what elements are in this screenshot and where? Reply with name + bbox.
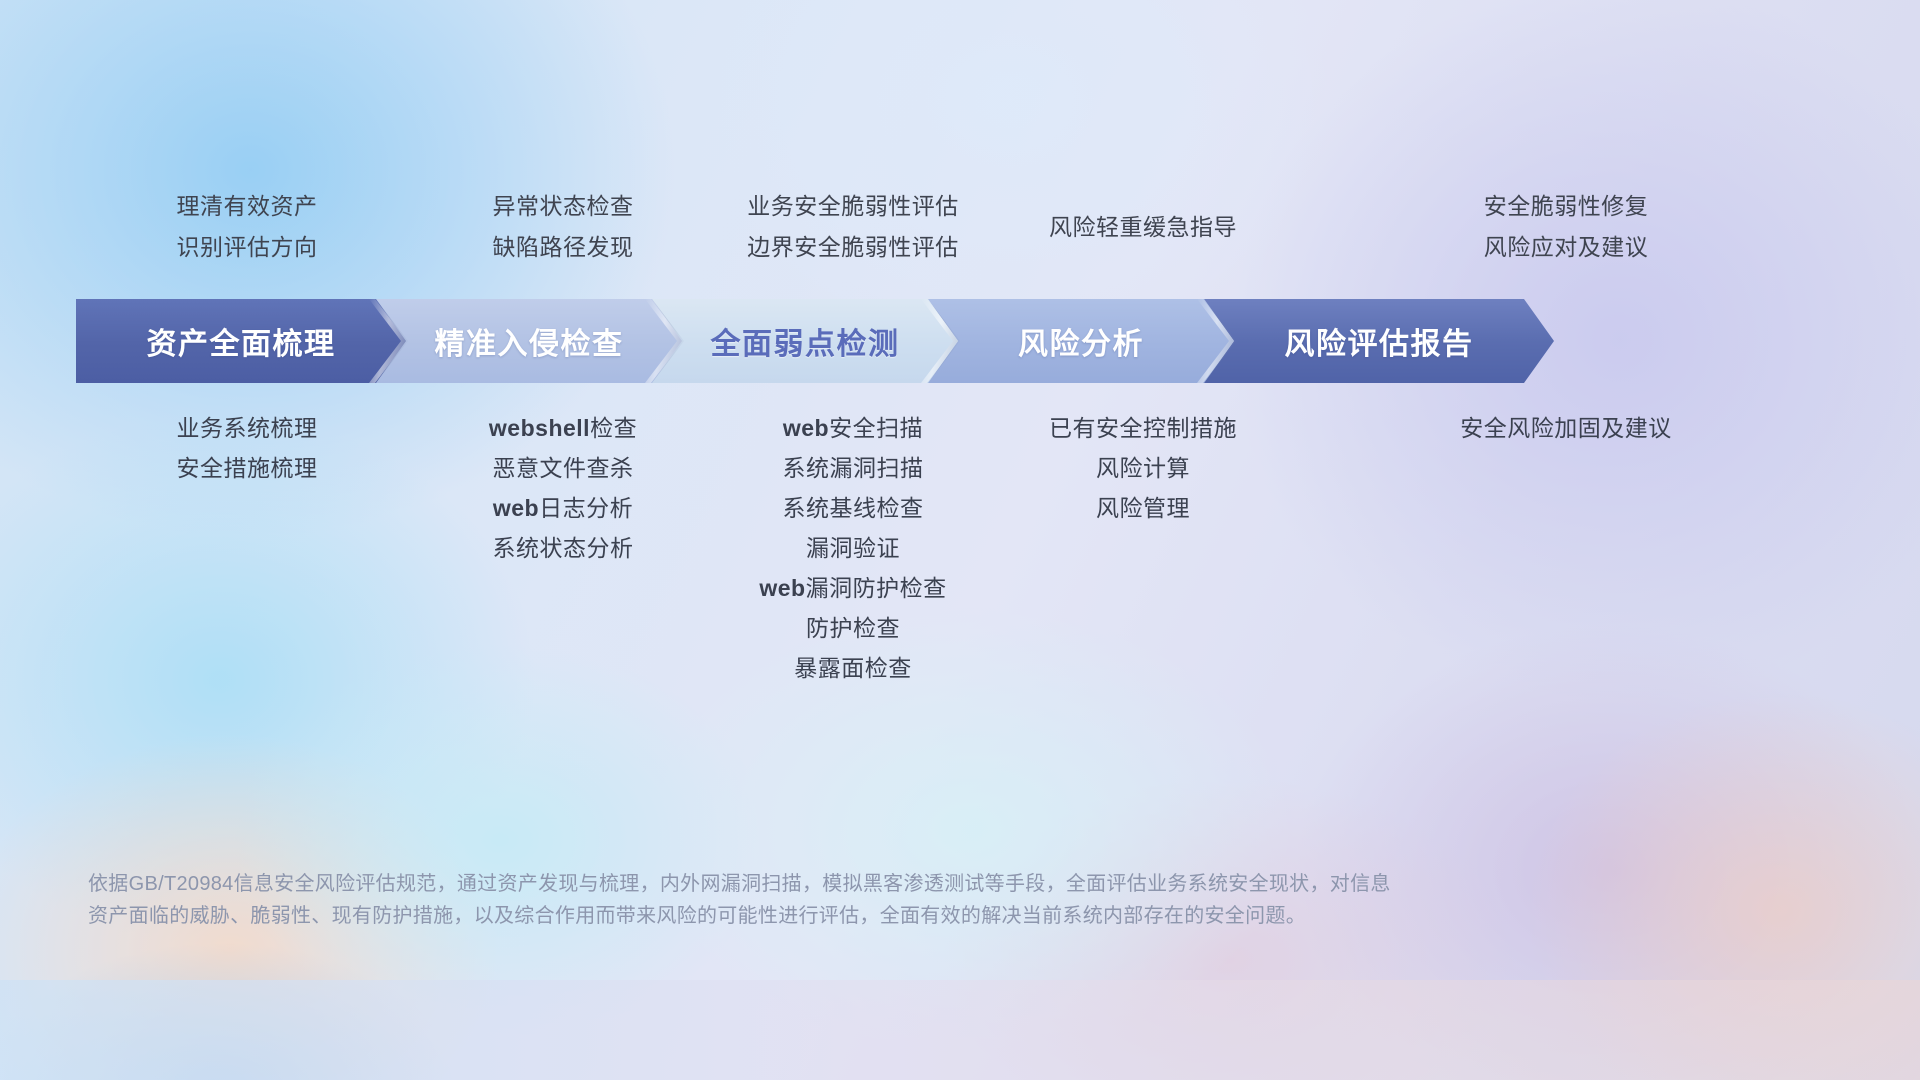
detail-list-item: 安全风险加固及建议 xyxy=(1288,408,1844,448)
detail-list-item: 暴露面检查 xyxy=(708,648,998,688)
top-label-row: 理清有效资产 识别评估方向 异常状态检查 缺陷路径发现 业务安全脆弱性评估 边界… xyxy=(76,186,1844,268)
stage-title: 资产全面梳理 xyxy=(147,319,336,363)
detail-list-item: 风险计算 xyxy=(998,448,1288,488)
stage-title: 全面弱点检测 xyxy=(711,319,900,363)
detail-list-item: 业务系统梳理 xyxy=(76,408,418,448)
process-arrow-band: 资产全面梳理 精准入侵检查 全面弱点检测 风险分析 风险评估报告 xyxy=(76,299,1844,383)
stage-title: 风险分析 xyxy=(1018,319,1144,363)
detail-list-item: 已有安全控制措施 xyxy=(998,408,1288,448)
detail-list-1: 业务系统梳理安全措施梳理 xyxy=(76,408,418,488)
detail-list-3: web安全扫描系统漏洞扫描系统基线检查漏洞验证web漏洞防护检查防护检查暴露面检… xyxy=(708,408,998,688)
top-label-group-4: 风险轻重缓急指导 xyxy=(998,186,1288,268)
detail-list-item: web漏洞防护检查 xyxy=(708,568,998,608)
detail-list-item: web日志分析 xyxy=(418,488,708,528)
stage-arrow-2[interactable]: 精准入侵检查 xyxy=(376,299,682,383)
footer-line: 资产面临的威胁、脆弱性、现有防护措施，以及综合作用而带来风险的可能性进行评估，全… xyxy=(88,900,1608,932)
top-label: 安全脆弱性修复 xyxy=(1288,186,1844,227)
detail-list-item: 安全措施梳理 xyxy=(76,448,418,488)
footer-description: 依据GB/T20984信息安全风险评估规范，通过资产发现与梳理，内外网漏洞扫描，… xyxy=(88,868,1608,932)
stage-arrow-1[interactable]: 资产全面梳理 xyxy=(76,299,406,383)
top-label: 业务安全脆弱性评估 xyxy=(708,186,998,227)
stage-title: 风险评估报告 xyxy=(1285,319,1474,363)
top-label: 风险轻重缓急指导 xyxy=(998,207,1288,248)
stage-arrow-5[interactable]: 风险评估报告 xyxy=(1204,299,1554,383)
detail-list-item: 系统状态分析 xyxy=(418,528,708,568)
detail-list-item: 系统漏洞扫描 xyxy=(708,448,998,488)
detail-list-2: webshell检查恶意文件查杀web日志分析系统状态分析 xyxy=(418,408,708,568)
top-label-group-1: 理清有效资产 识别评估方向 xyxy=(76,186,418,268)
stage-arrow-3[interactable]: 全面弱点检测 xyxy=(652,299,958,383)
detail-list-item: webshell检查 xyxy=(418,408,708,448)
detail-list-item: 恶意文件查杀 xyxy=(418,448,708,488)
detail-list-5: 安全风险加固及建议 xyxy=(1288,408,1844,448)
detail-list-item: 系统基线检查 xyxy=(708,488,998,528)
detail-list-4: 已有安全控制措施风险计算风险管理 xyxy=(998,408,1288,528)
detail-list-item: 防护检查 xyxy=(708,608,998,648)
stage-title: 精准入侵检查 xyxy=(435,319,624,363)
detail-list-item: web安全扫描 xyxy=(708,408,998,448)
detail-list-item: 风险管理 xyxy=(998,488,1288,528)
stage-arrow-4[interactable]: 风险分析 xyxy=(928,299,1234,383)
top-label: 理清有效资产 xyxy=(76,186,418,227)
top-label: 异常状态检查 xyxy=(418,186,708,227)
detail-list-item: 漏洞验证 xyxy=(708,528,998,568)
top-label: 风险应对及建议 xyxy=(1288,227,1844,268)
top-label: 缺陷路径发现 xyxy=(418,227,708,268)
top-label: 识别评估方向 xyxy=(76,227,418,268)
footer-line: 依据GB/T20984信息安全风险评估规范，通过资产发现与梳理，内外网漏洞扫描，… xyxy=(88,868,1608,900)
top-label-group-3: 业务安全脆弱性评估 边界安全脆弱性评估 xyxy=(708,186,998,268)
top-label: 边界安全脆弱性评估 xyxy=(708,227,998,268)
top-label-group-5: 安全脆弱性修复 风险应对及建议 xyxy=(1288,186,1844,268)
detail-list-row: 业务系统梳理安全措施梳理 webshell检查恶意文件查杀web日志分析系统状态… xyxy=(76,408,1844,688)
top-label-group-2: 异常状态检查 缺陷路径发现 xyxy=(418,186,708,268)
